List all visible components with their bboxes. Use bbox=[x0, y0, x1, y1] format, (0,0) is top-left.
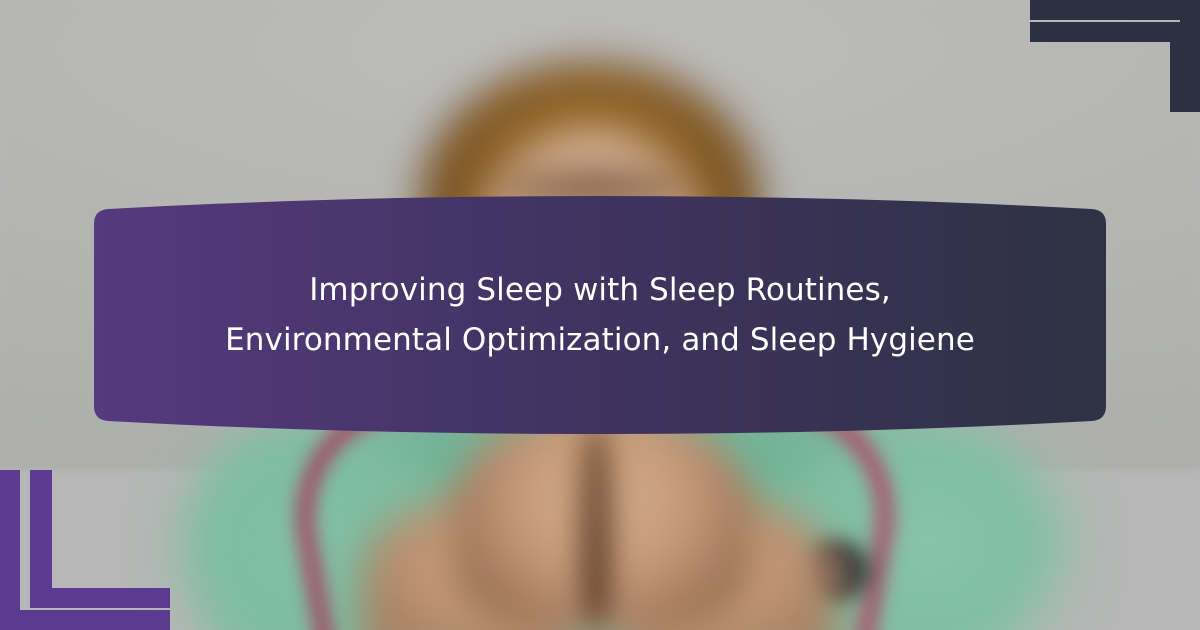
banner-text-block: Improving Sleep with Sleep Routines, Env… bbox=[94, 196, 1106, 434]
photo-hand-shadow bbox=[578, 425, 614, 625]
page-title: Improving Sleep with Sleep Routines, Env… bbox=[200, 265, 1000, 365]
title-banner: Improving Sleep with Sleep Routines, Env… bbox=[94, 196, 1106, 434]
social-card-canvas: Improving Sleep with Sleep Routines, Env… bbox=[0, 0, 1200, 630]
